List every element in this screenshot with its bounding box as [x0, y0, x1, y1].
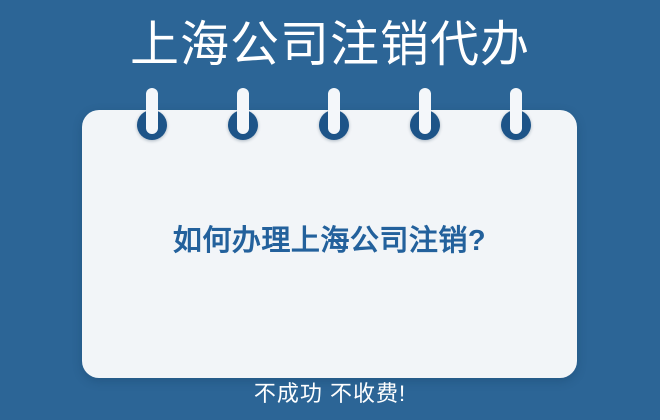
card-heading: 如何办理上海公司注销? [82, 223, 577, 259]
poster-banner: 上海公司注销代办 如何办理上海公司注销? 不成功 [0, 0, 660, 420]
footer-tagline: 不成功 不收费! [0, 380, 660, 408]
notepad-card: 如何办理上海公司注销? [82, 110, 577, 378]
page-title: 上海公司注销代办 [0, 14, 660, 76]
